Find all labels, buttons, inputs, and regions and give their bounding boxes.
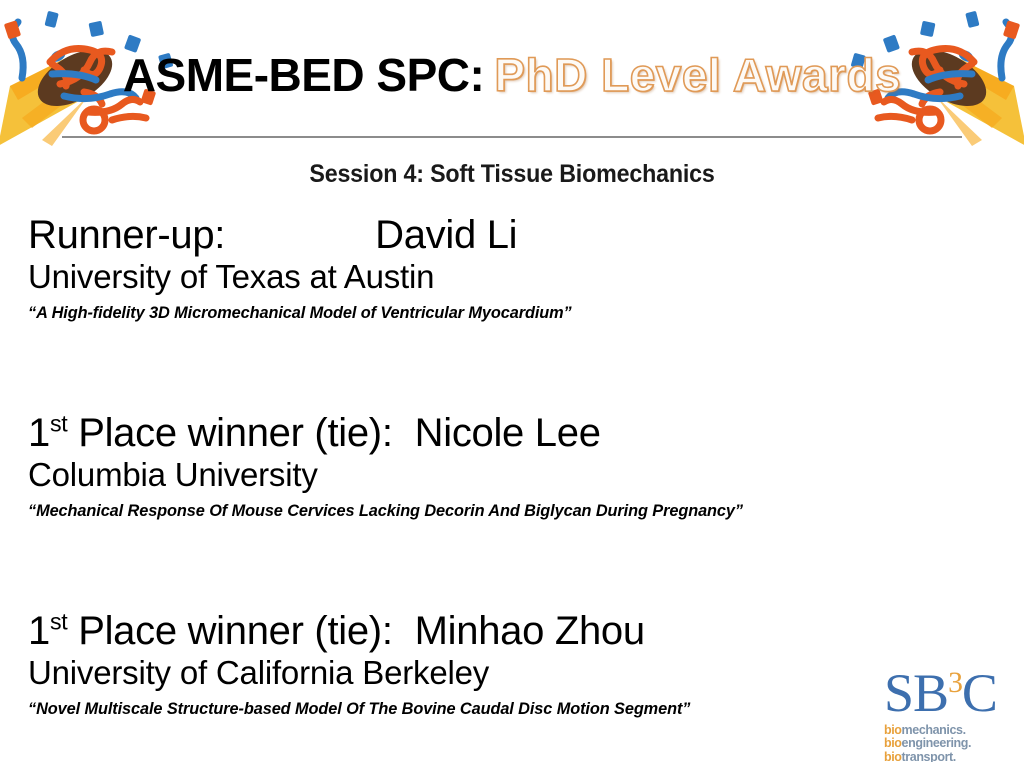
award-paper-title: “A High-fidelity 3D Micromechanical Mode… [28, 303, 969, 323]
award-place-line: Runner-up:David Li [28, 214, 1008, 256]
award-place-line: 1st Place winner (tie):Minhao Zhou [28, 610, 1008, 652]
sb3c-mark-c: C [962, 663, 997, 723]
sb3c-tagline-1-rest: mechanics. [902, 723, 966, 737]
slide-canvas: ASME-BED SPC:PhD Level Awards Session 4:… [0, 0, 1024, 769]
sb3c-tagline-clip: biomechanics. bioengineering. biotranspo… [884, 720, 1024, 762]
award-winner-name: Minhao Zhou [415, 609, 645, 653]
sb3c-tagline-line-1: biomechanics. [884, 724, 1024, 737]
title-banner: ASME-BED SPC:PhD Level Awards [0, 0, 1024, 140]
session-header: Session 4: Soft Tissue Biomechanics [36, 160, 988, 189]
sb3c-logo: SB3C biomechanics. bioengineering. biotr… [884, 666, 1024, 769]
award-place-label: Place winner (tie): [78, 411, 392, 455]
award-place-ordinal: st [50, 411, 67, 437]
title-primary: ASME-BED SPC: [123, 49, 485, 101]
award-affiliation: University of Texas at Austin [28, 258, 1008, 297]
award-entry: 1st Place winner (tie):Minhao Zhou Unive… [28, 610, 1008, 719]
award-place-line: 1st Place winner (tie):Nicole Lee [28, 412, 1008, 454]
title-accent: PhD Level Awards [484, 49, 901, 101]
award-affiliation: University of California Berkeley [28, 654, 1008, 693]
award-entry: Runner-up:David Li University of Texas a… [28, 214, 1008, 323]
award-place-label: Place winner (tie): [78, 609, 392, 653]
sb3c-wordmark: SB3C [884, 666, 1024, 720]
award-entry: 1st Place winner (tie):Nicole Lee Columb… [28, 412, 1008, 521]
award-paper-title: “Mechanical Response Of Mouse Cervices L… [28, 501, 969, 521]
sb3c-tagline-3-rest: transport. [902, 750, 956, 763]
award-paper-title: “Novel Multiscale Structure-based Model … [28, 699, 969, 719]
sb3c-tagline-3-bio: bio [884, 750, 902, 763]
sb3c-tagline-line-2: bioengineering. [884, 737, 1024, 750]
sb3c-tagline-2-bio: bio [884, 736, 902, 750]
award-place-number: 1 [28, 411, 50, 455]
award-affiliation: Columbia University [28, 456, 1008, 495]
slide-title: ASME-BED SPC:PhD Level Awards [0, 48, 1024, 102]
sb3c-tagline-line-3: biotransport. [884, 751, 1024, 763]
sb3c-tagline-2-rest: engineering. [902, 736, 972, 750]
sb3c-mark-sb: SB [884, 663, 948, 723]
award-place-number: 1 [28, 609, 50, 653]
award-place-ordinal: st [50, 609, 67, 635]
award-place-label: Runner-up: [28, 213, 225, 257]
sb3c-tagline: biomechanics. bioengineering. biotranspo… [884, 724, 1024, 762]
award-winner-name: David Li [375, 213, 517, 257]
sb3c-tagline-1-bio: bio [884, 723, 902, 737]
sb3c-mark-superscript-3: 3 [948, 667, 962, 699]
award-winner-name: Nicole Lee [415, 411, 601, 455]
title-divider [62, 136, 962, 138]
